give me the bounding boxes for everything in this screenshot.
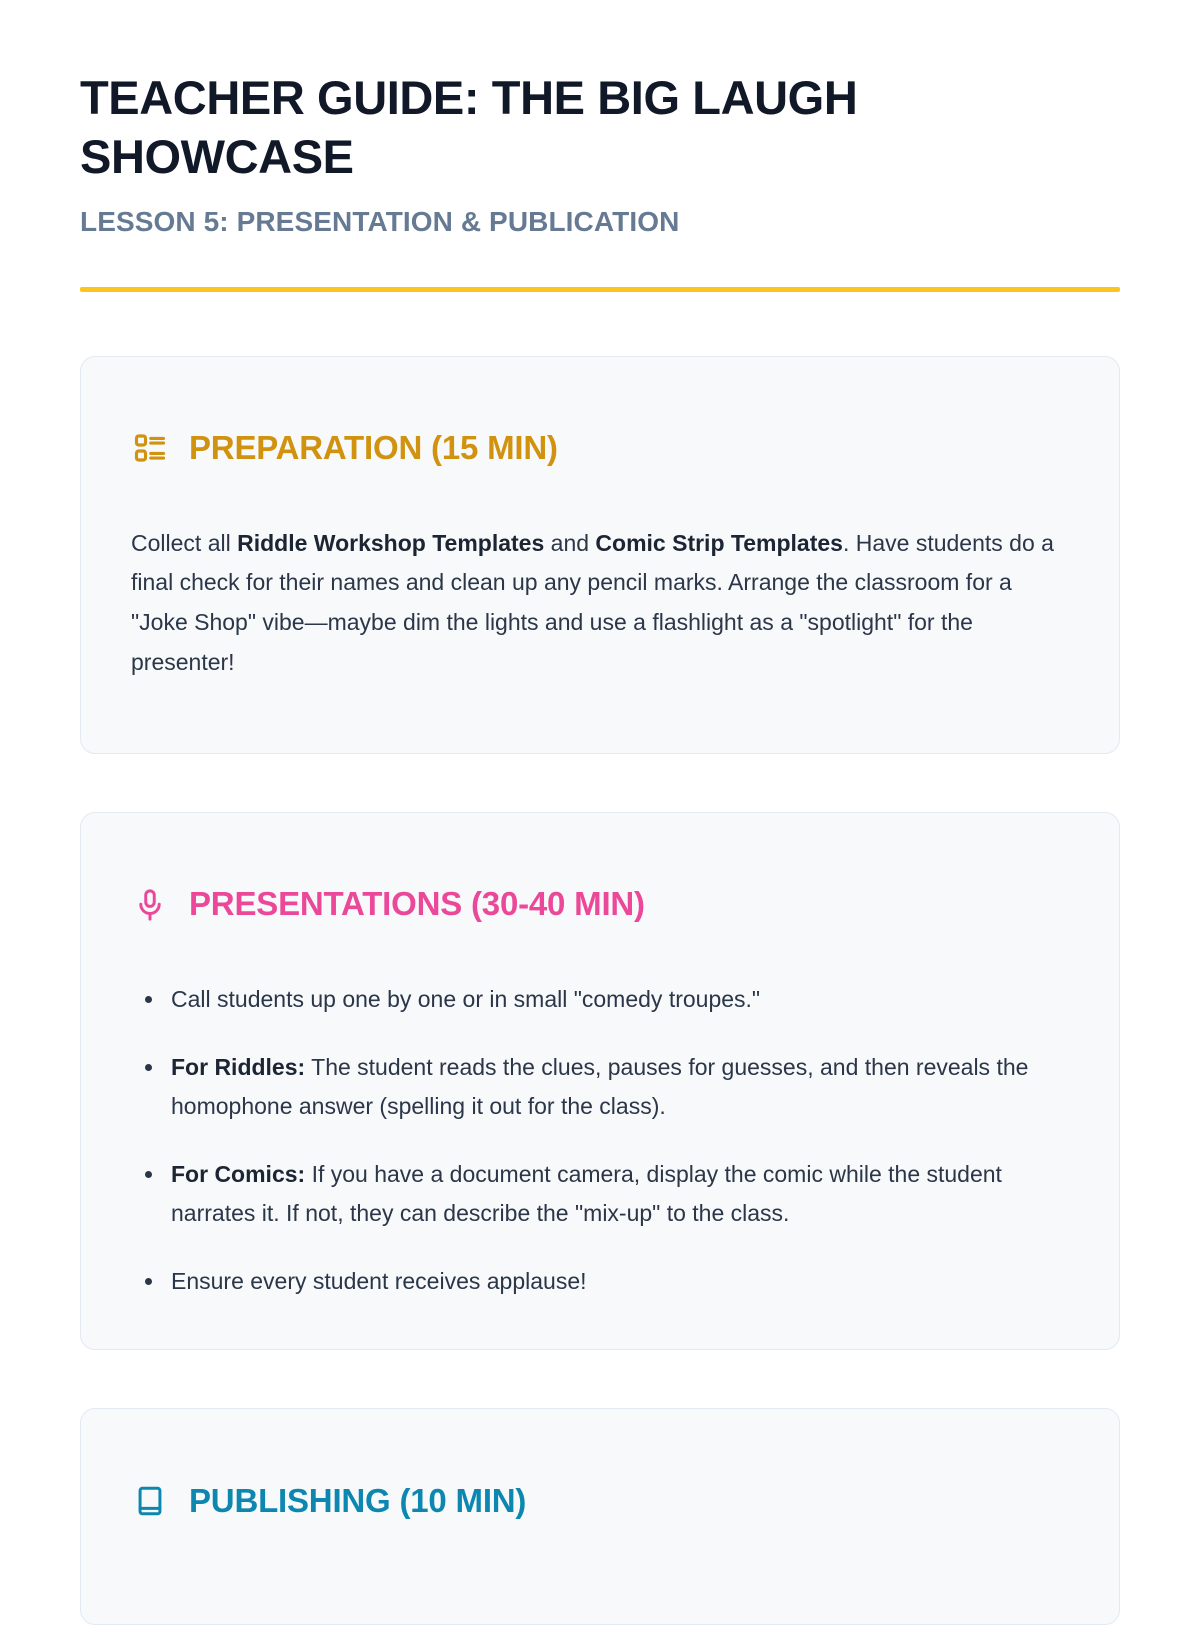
section-header-presentations: PRESENTATIONS (30-40 MIN): [131, 859, 1069, 950]
section-body-presentations: Call students up one by one or in small …: [131, 980, 1069, 1301]
section-title-preparation: PREPARATION (15 MIN): [189, 430, 558, 466]
bullet-label: For Comics:: [171, 1161, 305, 1187]
section-card-preparation: PREPARATION (15 MIN) Collect all Riddle …: [80, 356, 1120, 754]
section-header-publishing: PUBLISHING (10 MIN): [131, 1455, 1069, 1546]
page-title: TEACHER GUIDE: THE BIG LAUGH SHOWCASE: [80, 68, 960, 186]
page-subtitle: LESSON 5: PRESENTATION & PUBLICATION: [80, 204, 1120, 240]
prep-text-mid: and: [544, 530, 595, 556]
section-card-publishing: PUBLISHING (10 MIN): [80, 1408, 1120, 1625]
list-item: For Comics: If you have a document camer…: [131, 1155, 1069, 1234]
bullet-label: For Riddles:: [171, 1054, 305, 1080]
list-checklist-icon: [131, 429, 169, 467]
list-item: For Riddles: The student reads the clues…: [131, 1048, 1069, 1127]
section-body-preparation: Collect all Riddle Workshop Templates an…: [131, 524, 1069, 682]
book-icon: [131, 1482, 169, 1520]
bullet-text: Call students up one by one or in small …: [171, 986, 760, 1012]
section-header-preparation: PREPARATION (15 MIN): [131, 403, 1069, 494]
prep-bold-comic-templates: Comic Strip Templates: [595, 530, 843, 556]
section-card-presentations: PRESENTATIONS (30-40 MIN) Call students …: [80, 812, 1120, 1350]
document-header: TEACHER GUIDE: THE BIG LAUGH SHOWCASE LE…: [80, 0, 1120, 292]
prep-text-lead: Collect all: [131, 530, 237, 556]
list-item: Call students up one by one or in small …: [131, 980, 1069, 1020]
section-title-publishing: PUBLISHING (10 MIN): [189, 1483, 526, 1519]
microphone-icon: [131, 886, 169, 924]
section-title-presentations: PRESENTATIONS (30-40 MIN): [189, 886, 645, 922]
document-page: TEACHER GUIDE: THE BIG LAUGH SHOWCASE LE…: [0, 0, 1200, 1600]
list-item: Ensure every student receives applause!: [131, 1262, 1069, 1302]
header-divider: [80, 287, 1120, 292]
prep-bold-riddle-templates: Riddle Workshop Templates: [237, 530, 544, 556]
bullet-text: Ensure every student receives applause!: [171, 1268, 587, 1294]
section-card-list: PREPARATION (15 MIN) Collect all Riddle …: [80, 356, 1120, 1625]
